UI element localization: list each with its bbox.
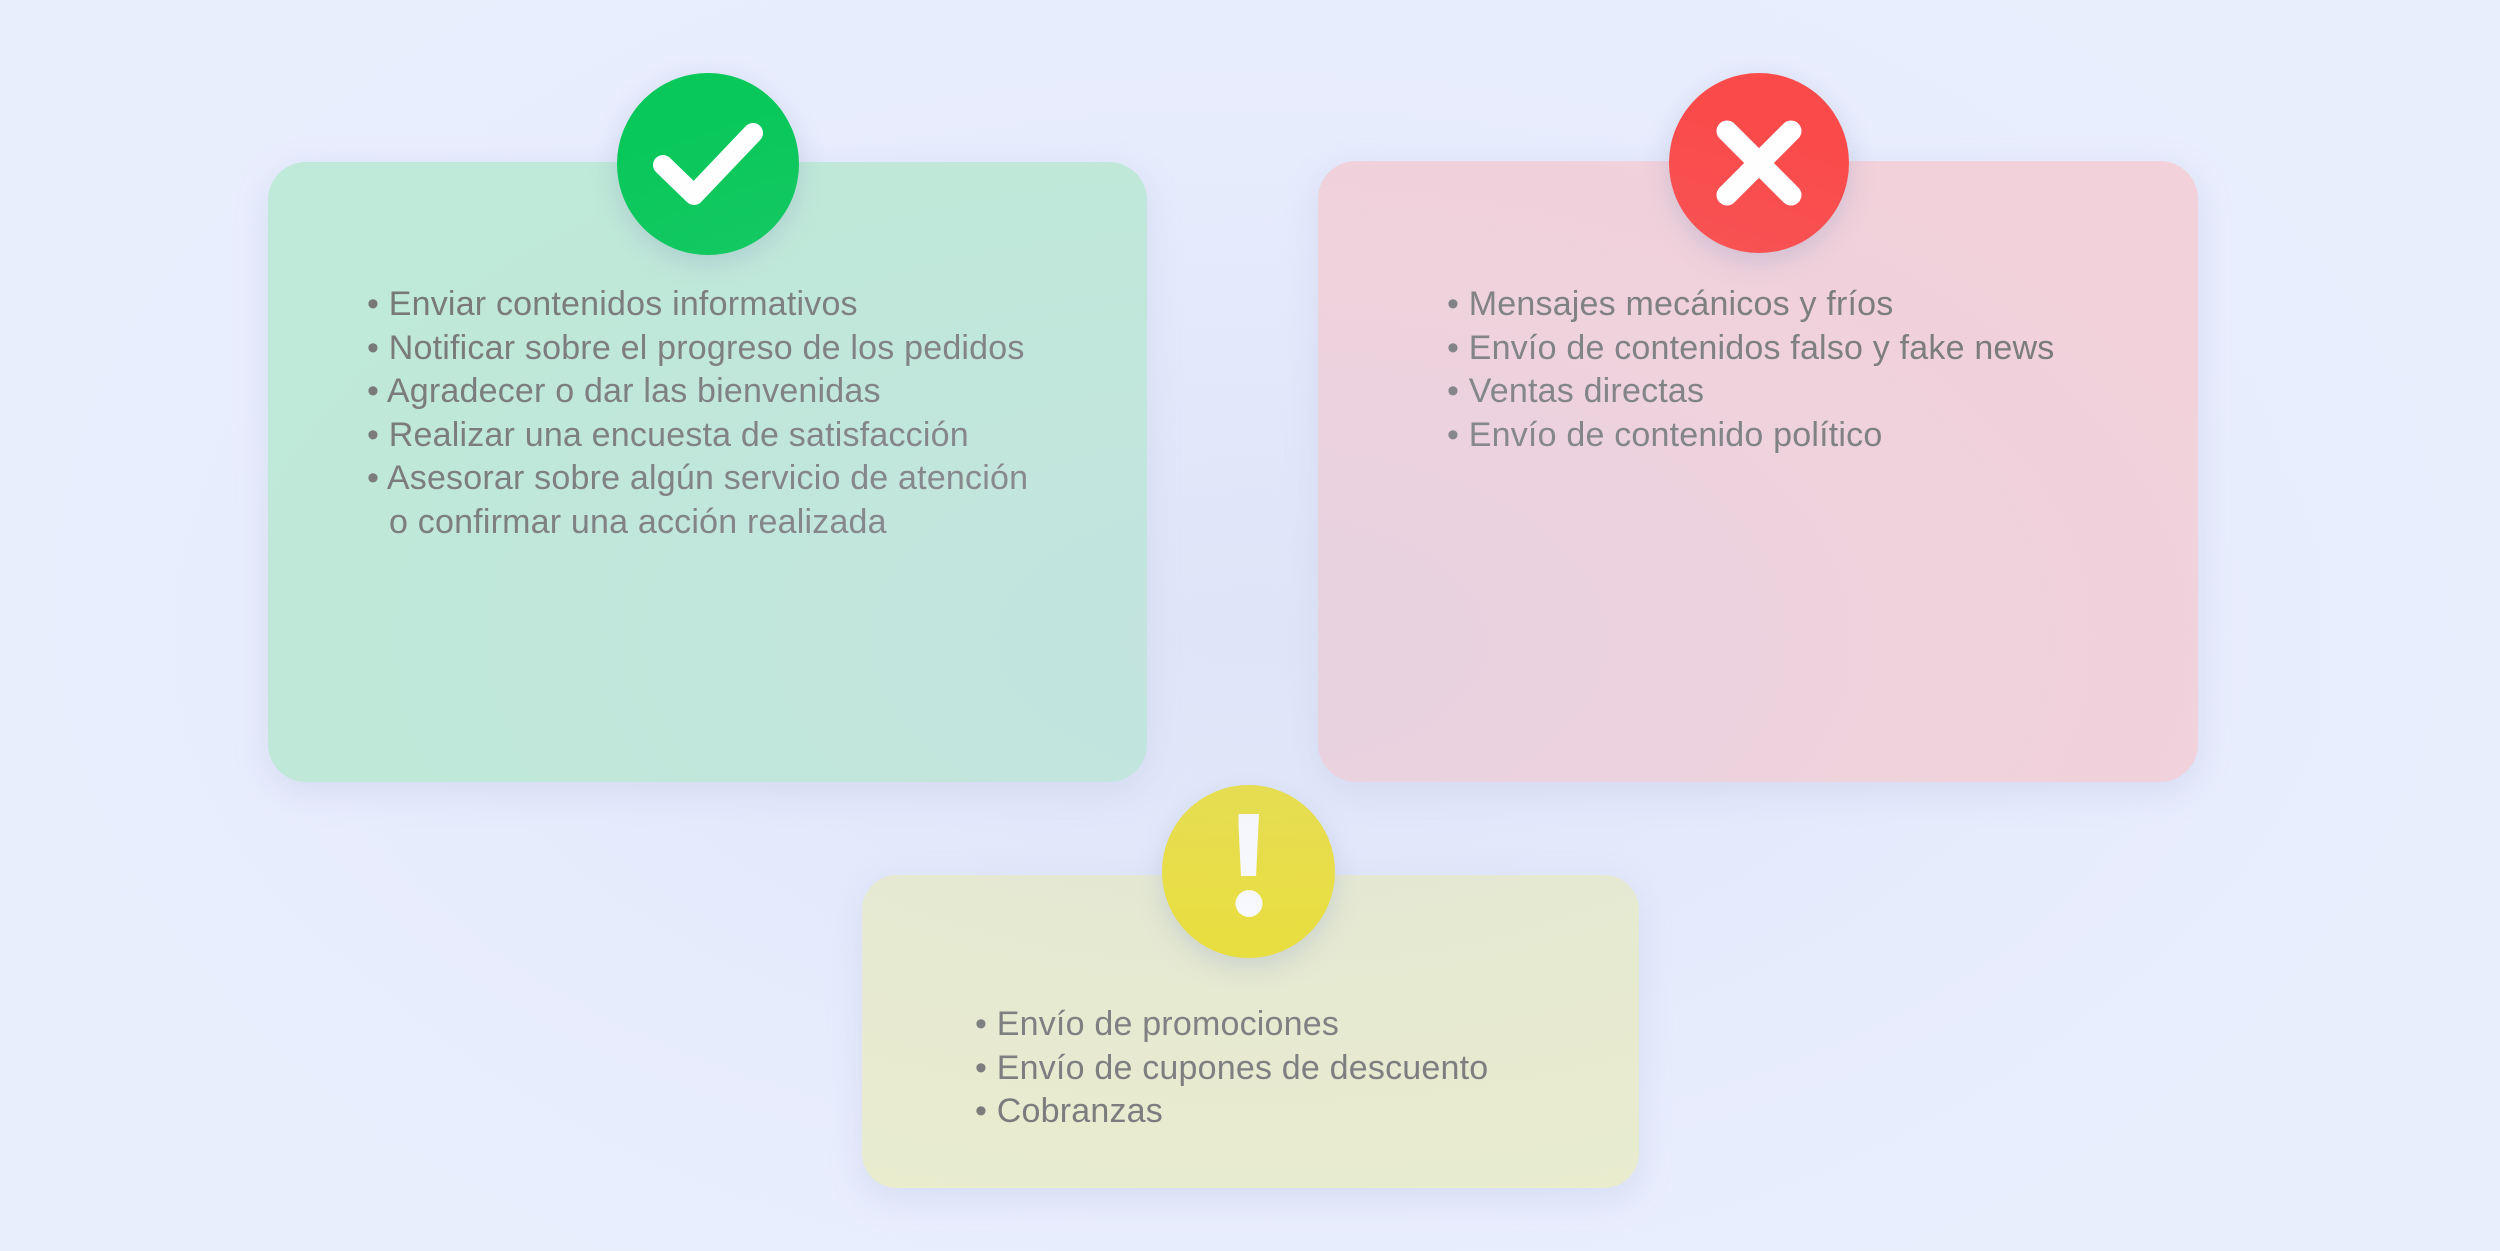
- check-glyph: [653, 119, 763, 209]
- cross-glyph: [1711, 115, 1807, 211]
- list-item: • Envío de contenidos falso y fake news: [1447, 327, 2500, 371]
- bad-practices-list: • Mensajes mecánicos y fríos • Envío de …: [1447, 283, 2500, 457]
- list-item: • Envío de contenido político: [1447, 414, 2500, 458]
- check-icon: [617, 73, 799, 255]
- list-item: • Cobranzas: [975, 1090, 2500, 1134]
- list-item: • Envío de promociones: [975, 1003, 2500, 1047]
- exclamation-dot: [1235, 890, 1262, 917]
- exclamation-icon: [1162, 785, 1335, 958]
- diagram-canvas: • Enviar contenidos informativos • Notif…: [0, 0, 2500, 1251]
- bad-practices-card: [1318, 161, 2198, 782]
- cross-icon: [1669, 73, 1849, 253]
- list-item: • Ventas directas: [1447, 370, 2500, 414]
- exclamation-bar: [1238, 814, 1259, 876]
- list-item: • Envío de cupones de descuento: [975, 1047, 2500, 1091]
- caution-practices-list: • Envío de promociones • Envío de cupone…: [975, 1003, 2500, 1134]
- list-item: • Mensajes mecánicos y fríos: [1447, 283, 2500, 327]
